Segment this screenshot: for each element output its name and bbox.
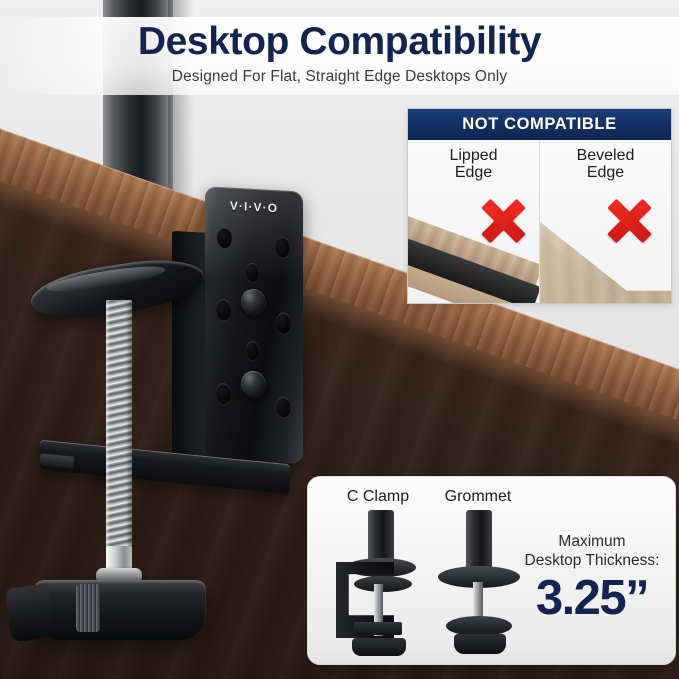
max-thickness-line2: Desktop Thickness: <box>525 552 660 569</box>
bottom-vignette <box>0 639 679 679</box>
lipped-edge-item: Lipped Edge <box>408 140 539 303</box>
lipped-edge-label-line2: Edge <box>455 164 492 181</box>
grommet-bottom-disc <box>446 616 512 636</box>
not-compatible-panel: NOT COMPATIBLE Lipped Edge Beveled Edge <box>407 108 672 304</box>
beveled-edge-label-line1: Beveled <box>577 147 635 164</box>
red-x-icon <box>606 198 652 244</box>
lipped-edge-label: Lipped Edge <box>408 147 539 182</box>
c-clamp-lower-shelf <box>354 622 402 635</box>
grommet-pole <box>466 510 492 572</box>
not-compatible-divider <box>539 140 540 303</box>
c-clamp-oval-plate <box>354 576 412 592</box>
grommet-label: Grommet <box>418 488 538 506</box>
not-compatible-heading-label: NOT COMPATIBLE <box>408 115 671 134</box>
beveled-edge-item: Beveled Edge <box>540 140 671 303</box>
max-thickness-line1: Maximum <box>558 533 625 550</box>
not-compatible-header: NOT COMPATIBLE <box>408 109 671 141</box>
product-infographic: V·I·V·O Desktop Compatibility Designed F… <box>0 0 679 679</box>
page-title: Desktop Compatibility <box>0 22 679 61</box>
c-clamp-illustration <box>336 510 422 658</box>
max-thickness-label: Maximum Desktop Thickness: <box>512 532 672 570</box>
red-x-icon <box>480 198 526 244</box>
lipped-edge-label-line1: Lipped <box>449 147 497 164</box>
page-subtitle: Designed For Flat, Straight Edge Desktop… <box>0 68 679 86</box>
beveled-edge-label: Beveled Edge <box>540 147 671 182</box>
max-thickness-value: 3.25” <box>508 574 676 623</box>
beveled-edge-label-line2: Edge <box>587 164 624 181</box>
